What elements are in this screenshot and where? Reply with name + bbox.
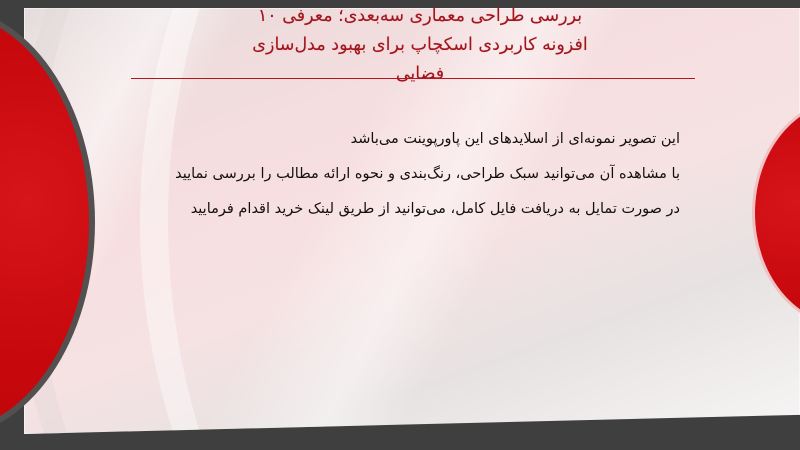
- slide-body-line-2: با مشاهده آن می‌توانید سبک طراحی، رنگ‌بن…: [70, 157, 680, 192]
- slide-title: بررسی طراحی معماری سه‌بعدی؛ معرفی ۱۰ افز…: [120, 2, 720, 89]
- slide-body-line-3: در صورت تمایل به دریافت فایل کامل، می‌تو…: [70, 192, 680, 227]
- slide-title-line-2: افزونه کاربردی اسکچاپ برای بهبود مدل‌ساز…: [120, 31, 720, 60]
- slide-title-line-3: فضایی: [120, 60, 720, 89]
- slide-body-text: این تصویر نمونه‌ای از اسلایدهای این پاور…: [70, 122, 680, 227]
- presentation-slide: بررسی طراحی معماری سه‌بعدی؛ معرفی ۱۰ افز…: [0, 0, 800, 450]
- slide-content: بررسی طراحی معماری سه‌بعدی؛ معرفی ۱۰ افز…: [0, 0, 800, 450]
- slide-body-line-1: این تصویر نمونه‌ای از اسلایدهای این پاور…: [70, 122, 680, 157]
- slide-title-line-1: بررسی طراحی معماری سه‌بعدی؛ معرفی ۱۰: [120, 2, 720, 31]
- title-underline: [131, 78, 695, 79]
